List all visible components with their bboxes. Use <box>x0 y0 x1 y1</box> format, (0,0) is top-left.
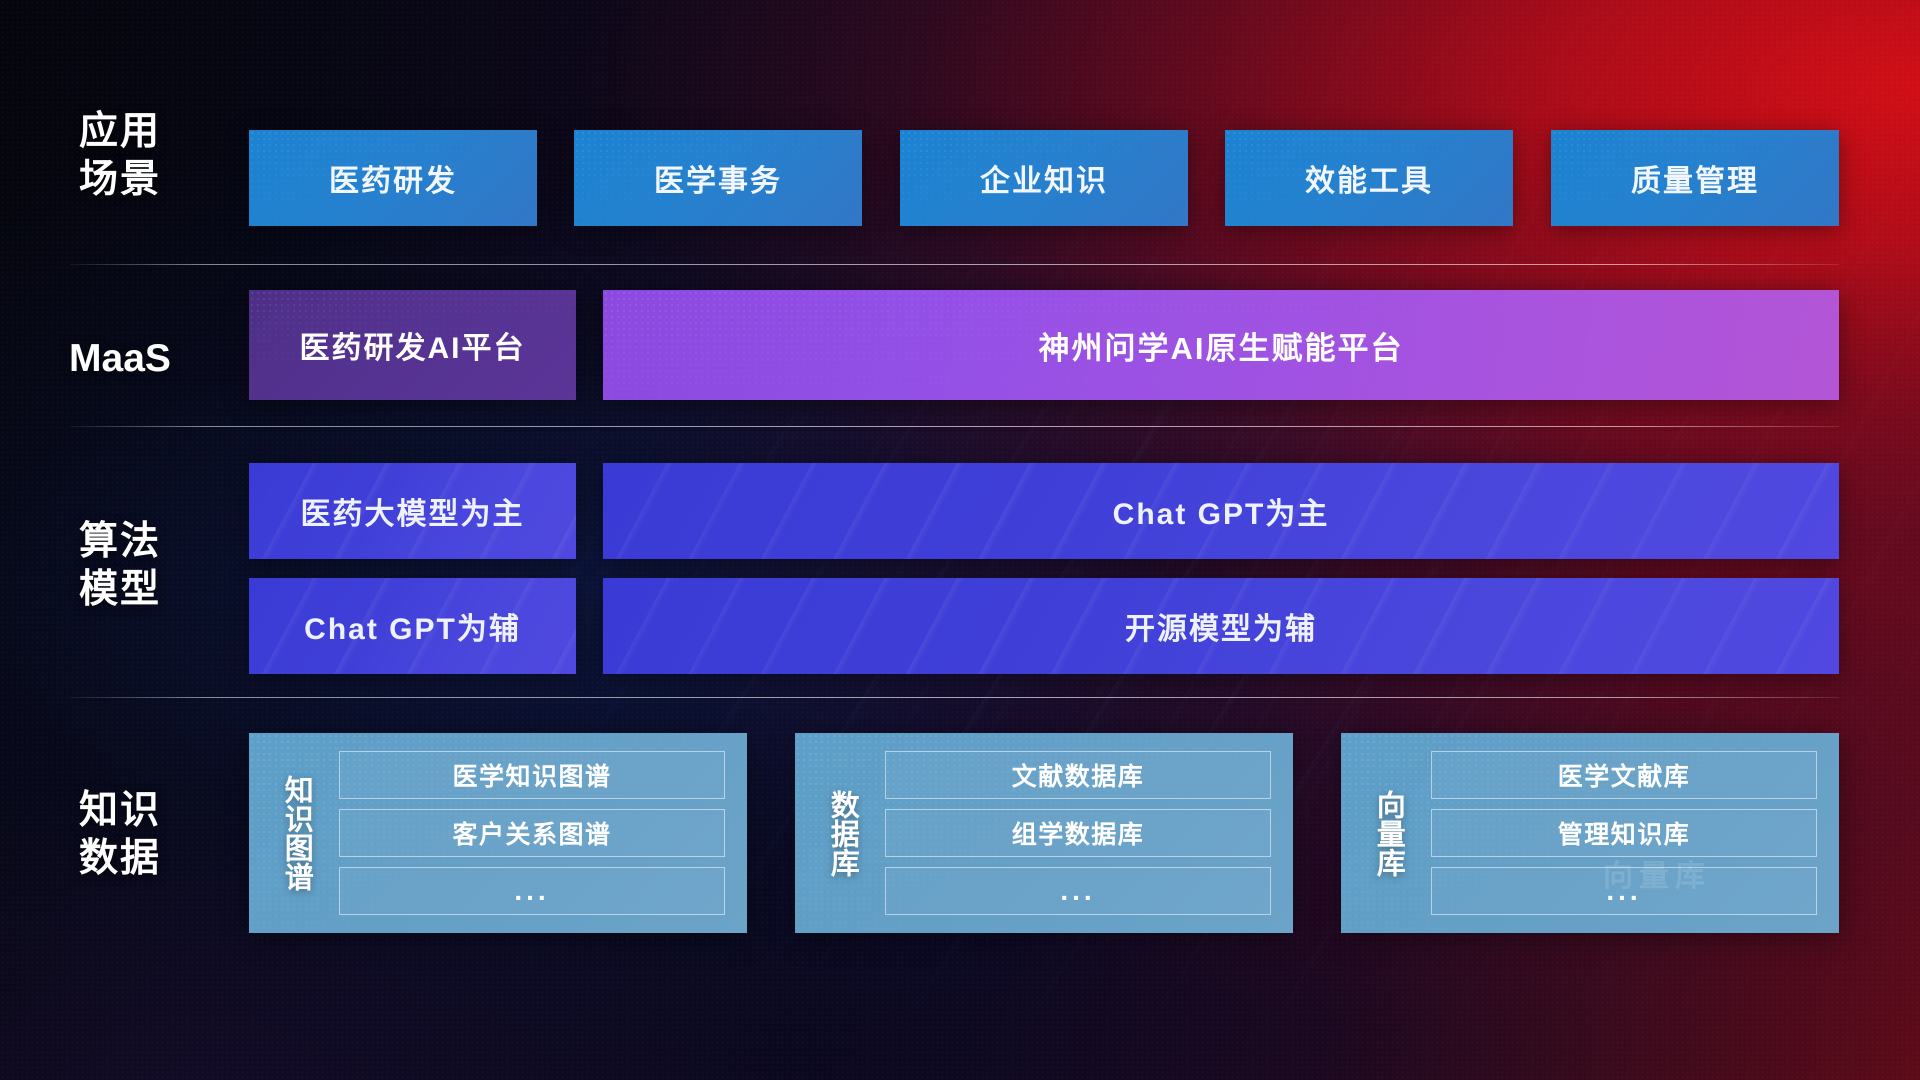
knowledge-panel-items: 医学知识图谱 客户关系图谱 ... <box>325 733 747 933</box>
algo-box-label: Chat GPT为辅 <box>304 604 521 648</box>
knowledge-panel-items: 文献数据库 组学数据库 ... <box>871 733 1293 933</box>
maas-box-label: 神州问学AI原生赋能平台 <box>1039 323 1404 368</box>
knowledge-panel-vector-store[interactable]: 向量库 医学文献库 管理知识库 ... 向量库 <box>1341 733 1839 933</box>
app-box-label: 企业知识 <box>980 156 1108 200</box>
row-label-maas-text: MaaS <box>20 335 220 383</box>
algo-box-label: 医药大模型为主 <box>301 489 525 533</box>
knowledge-panel-items: 医学文献库 管理知识库 ... <box>1417 733 1839 933</box>
maas-box-drug-rd-ai-platform[interactable]: 医药研发AI平台 <box>249 290 576 400</box>
app-box-label: 效能工具 <box>1305 156 1433 200</box>
maas-box-label: 医药研发AI平台 <box>300 323 526 367</box>
row-label-maas: MaaS <box>20 335 220 383</box>
knowledge-item[interactable]: 管理知识库 <box>1431 809 1817 857</box>
row-label-knowledge-line1: 知识 <box>20 787 220 835</box>
knowledge-item-more[interactable]: ... <box>885 867 1271 915</box>
algo-box-chatgpt-primary[interactable]: Chat GPT为主 <box>603 463 1839 559</box>
row-label-algorithm-line1: 算法 <box>20 518 220 566</box>
algo-box-pharma-llm-primary[interactable]: 医药大模型为主 <box>249 463 576 559</box>
knowledge-item[interactable]: 文献数据库 <box>885 751 1271 799</box>
knowledge-panel-knowledge-graph[interactable]: 知识图谱 医学知识图谱 客户关系图谱 ... <box>249 733 747 933</box>
app-box-label: 质量管理 <box>1631 156 1759 200</box>
app-box-label: 医药研发 <box>329 156 457 200</box>
algo-box-label: 开源模型为辅 <box>1125 604 1317 648</box>
row-label-algorithm: 算法 模型 <box>20 518 220 613</box>
app-box-efficiency-tools[interactable]: 效能工具 <box>1225 130 1513 226</box>
algo-box-label: Chat GPT为主 <box>1113 489 1330 533</box>
app-box-drug-rd[interactable]: 医药研发 <box>249 130 537 226</box>
row-label-knowledge-line2: 数据 <box>20 835 220 883</box>
algo-box-chatgpt-secondary[interactable]: Chat GPT为辅 <box>249 578 576 674</box>
row-label-application-line2: 场景 <box>20 156 220 204</box>
row-label-application-line1: 应用 <box>20 108 220 156</box>
architecture-diagram-slide: 应用 场景 医药研发 医学事务 企业知识 效能工具 质量管理 MaaS 医药研发… <box>0 0 1920 1080</box>
app-box-quality-management[interactable]: 质量管理 <box>1551 130 1839 226</box>
knowledge-item[interactable]: 客户关系图谱 <box>339 809 725 857</box>
knowledge-panel-database[interactable]: 数据库 文献数据库 组学数据库 ... <box>795 733 1293 933</box>
app-box-enterprise-knowledge[interactable]: 企业知识 <box>900 130 1188 226</box>
row-label-algorithm-line2: 模型 <box>20 566 220 614</box>
app-box-medical-affairs[interactable]: 医学事务 <box>574 130 862 226</box>
maas-box-shenzhou-wenxue-platform[interactable]: 神州问学AI原生赋能平台 <box>603 290 1839 400</box>
divider-application-maas <box>70 264 1839 265</box>
row-label-knowledge: 知识 数据 <box>20 787 220 882</box>
knowledge-panel-side-label: 数据库 <box>813 733 871 933</box>
app-box-label: 医学事务 <box>654 156 782 200</box>
knowledge-item[interactable]: 组学数据库 <box>885 809 1271 857</box>
knowledge-panel-side-label: 知识图谱 <box>267 733 325 933</box>
divider-algorithm-knowledge <box>70 697 1839 698</box>
knowledge-item-more[interactable]: ... <box>339 867 725 915</box>
knowledge-panel-side-label: 向量库 <box>1359 733 1417 933</box>
algo-box-opensource-secondary[interactable]: 开源模型为辅 <box>603 578 1839 674</box>
divider-maas-algorithm <box>70 426 1839 427</box>
knowledge-item[interactable]: 医学文献库 <box>1431 751 1817 799</box>
knowledge-item[interactable]: 医学知识图谱 <box>339 751 725 799</box>
row-label-application: 应用 场景 <box>20 108 220 203</box>
knowledge-item-more[interactable]: ... <box>1431 867 1817 915</box>
